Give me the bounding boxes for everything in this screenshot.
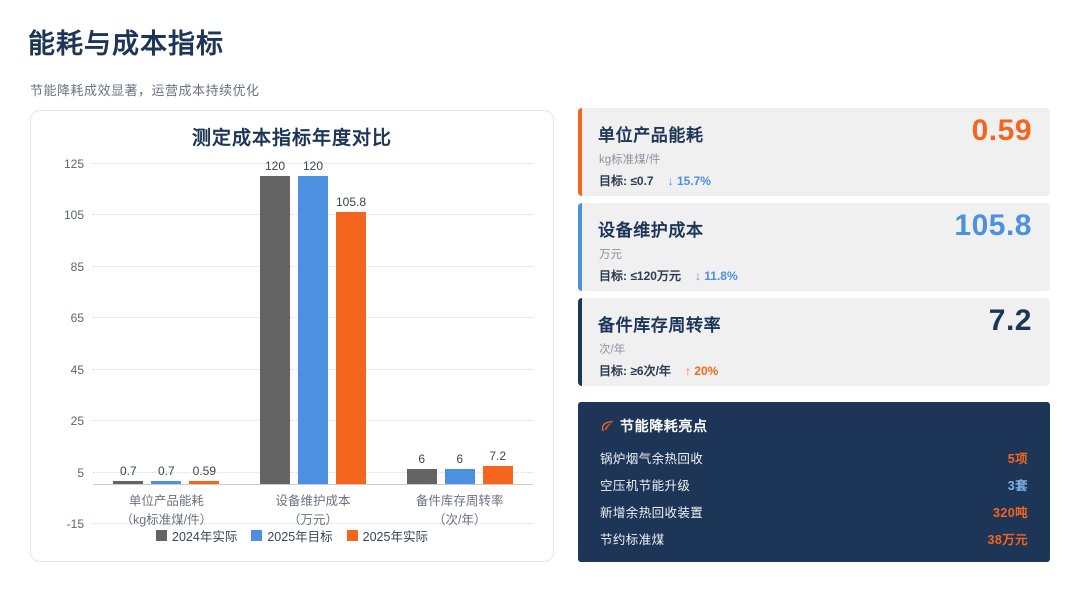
- chart-legend-label: 2025年实际: [363, 526, 428, 545]
- chart-bar-group: 667.2备件库存周转率（次/年）: [386, 163, 533, 523]
- kpi-delta: ↓ 11.8%: [695, 269, 738, 283]
- chart-legend-swatch: [251, 530, 262, 541]
- chart-bar[interactable]: [445, 469, 475, 484]
- chart-bars: 667.2: [386, 163, 533, 484]
- highlight-label: 节约标准煤: [600, 529, 665, 548]
- chart-bar-wrapper: 7.2: [483, 466, 513, 485]
- chart-y-tick-label: 105: [64, 208, 84, 222]
- chart-bar[interactable]: [189, 481, 219, 484]
- chart-bar-value-label: 6: [456, 452, 463, 466]
- kpi-delta: ↑ 20%: [685, 364, 718, 378]
- chart-legend-label: 2025年目标: [267, 526, 332, 545]
- chart-bar-wrapper: 6: [445, 469, 475, 484]
- chart-bar-value-label: 0.7: [120, 464, 137, 478]
- kpi-unit: kg标准煤/件: [599, 151, 660, 167]
- kpi-footer: 目标: ≤120万元↓ 11.8%: [599, 267, 738, 284]
- chart-bar-group: 0.70.70.59单位产品能耗（kg标准煤/件）: [93, 163, 240, 523]
- chart-y-tick-label: 5: [77, 466, 84, 480]
- highlight-value: 5项: [1008, 448, 1028, 467]
- chart-title: 测定成本指标年度对比: [31, 123, 553, 150]
- highlights-title: 节能降耗亮点: [620, 416, 708, 436]
- kpi-value: 7.2: [989, 304, 1032, 338]
- chart-bars: 0.70.70.59: [93, 163, 240, 484]
- highlights-title-row: 节能降耗亮点: [600, 416, 1028, 436]
- chart-bar-wrapper: 120: [298, 176, 328, 485]
- kpi-target: 目标: ≤0.7: [599, 172, 654, 189]
- chart-y-tick-label: 125: [64, 157, 84, 171]
- kpi-name: 单位产品能耗: [598, 121, 704, 146]
- chart-bar-value-label: 120: [303, 159, 323, 173]
- chart-bars: 120120105.8: [240, 163, 387, 484]
- kpi-target: 目标: ≤120万元: [599, 267, 681, 284]
- chart-bar-wrapper: 0.7: [151, 481, 181, 484]
- highlight-value: 38万元: [987, 529, 1028, 548]
- chart-legend: 2024年实际2025年目标2025年实际: [31, 526, 553, 545]
- chart-y-tick-label: 45: [71, 363, 84, 377]
- kpi-value: 0.59: [972, 114, 1032, 148]
- kpi-card[interactable]: 单位产品能耗kg标准煤/件目标: ≤0.7↓ 15.7%0.59: [578, 108, 1050, 196]
- kpi-footer: 目标: ≥6次/年↑ 20%: [599, 362, 718, 379]
- kpi-accent-bar: [578, 203, 582, 291]
- chart-bar[interactable]: [407, 469, 437, 484]
- kpi-unit: 次/年: [599, 341, 625, 357]
- chart-y-tick-label: 25: [71, 414, 84, 428]
- chart-bar-value-label: 0.7: [158, 464, 175, 478]
- kpi-delta: ↓ 15.7%: [668, 174, 711, 188]
- highlights-rows: 锅炉烟气余热回收5项空压机节能升级3套新增余热回收装置320吨节约标准煤38万元: [600, 444, 1028, 552]
- chart-x-category-line: 备件库存周转率: [386, 492, 533, 510]
- chart-x-category-label: 单位产品能耗（kg标准煤/件）: [93, 492, 240, 528]
- chart-legend-label: 2024年实际: [172, 526, 237, 545]
- kpi-unit: 万元: [599, 246, 622, 262]
- kpi-value: 105.8: [954, 209, 1032, 243]
- kpi-accent-bar: [578, 108, 582, 196]
- highlight-row: 锅炉烟气余热回收5项: [600, 444, 1028, 471]
- kpi-accent-bar: [578, 298, 582, 386]
- chart-bar[interactable]: [336, 212, 366, 484]
- highlight-row: 新增余热回收装置320吨: [600, 498, 1028, 525]
- chart-x-category-label: 备件库存周转率（次/年）: [386, 492, 533, 528]
- chart-legend-swatch: [347, 530, 358, 541]
- leaf-icon: [600, 419, 615, 434]
- chart-bar-value-label: 0.59: [193, 464, 216, 478]
- kpi-target: 目标: ≥6次/年: [599, 362, 671, 379]
- chart-card: 测定成本指标年度对比 125105856545255-15 0.70.70.59…: [30, 110, 554, 562]
- chart-bar[interactable]: [151, 481, 181, 484]
- highlight-value: 320吨: [993, 502, 1028, 521]
- chart-legend-item[interactable]: 2025年目标: [251, 526, 332, 545]
- kpi-card[interactable]: 设备维护成本万元目标: ≤120万元↓ 11.8%105.8: [578, 203, 1050, 291]
- kpi-card[interactable]: 备件库存周转率次/年目标: ≥6次/年↑ 20%7.2: [578, 298, 1050, 386]
- chart-bar-group: 120120105.8设备维护成本（万元）: [240, 163, 387, 523]
- chart-bar-wrapper: 6: [407, 469, 437, 484]
- highlight-row: 节约标准煤38万元: [600, 525, 1028, 552]
- kpi-name: 设备维护成本: [598, 216, 704, 241]
- chart-x-category-line: 单位产品能耗: [93, 492, 240, 510]
- page-title: 能耗与成本指标: [28, 22, 224, 61]
- highlight-row: 空压机节能升级3套: [600, 471, 1028, 498]
- chart-bar[interactable]: [483, 466, 513, 485]
- chart-bar[interactable]: [113, 481, 143, 484]
- chart-bar-value-label: 120: [265, 159, 285, 173]
- chart-bar-wrapper: 120: [260, 176, 290, 485]
- chart-x-category-label: 设备维护成本（万元）: [240, 492, 387, 528]
- highlight-value: 3套: [1008, 475, 1028, 494]
- chart-bar-wrapper: 0.7: [113, 481, 143, 484]
- kpi-name: 备件库存周转率: [598, 311, 721, 336]
- page-subtitle: 节能降耗成效显著，运营成本持续优化: [30, 80, 260, 99]
- chart-y-tick-label: 65: [71, 311, 84, 325]
- highlight-label: 空压机节能升级: [600, 475, 690, 494]
- chart-bar-value-label: 105.8: [336, 195, 366, 209]
- chart-legend-item[interactable]: 2024年实际: [156, 526, 237, 545]
- chart-bar[interactable]: [298, 176, 328, 485]
- chart-y-tick-label: 85: [71, 260, 84, 274]
- chart-bar-wrapper: 105.8: [336, 212, 366, 484]
- chart-plot-area: 125105856545255-15 0.70.70.59单位产品能耗（kg标准…: [93, 163, 533, 523]
- chart-bar-value-label: 6: [418, 452, 425, 466]
- chart-legend-item[interactable]: 2025年实际: [347, 526, 428, 545]
- chart-bar[interactable]: [260, 176, 290, 485]
- chart-bar-wrapper: 0.59: [189, 481, 219, 484]
- chart-legend-swatch: [156, 530, 167, 541]
- highlight-label: 新增余热回收装置: [600, 502, 703, 521]
- kpi-footer: 目标: ≤0.7↓ 15.7%: [599, 172, 711, 189]
- chart-bar-value-label: 7.2: [489, 449, 506, 463]
- highlights-panel: 节能降耗亮点 锅炉烟气余热回收5项空压机节能升级3套新增余热回收装置320吨节约…: [578, 402, 1050, 562]
- chart-x-category-line: 设备维护成本: [240, 492, 387, 510]
- chart-bar-groups: 0.70.70.59单位产品能耗（kg标准煤/件）120120105.8设备维护…: [93, 163, 533, 523]
- highlight-label: 锅炉烟气余热回收: [600, 448, 703, 467]
